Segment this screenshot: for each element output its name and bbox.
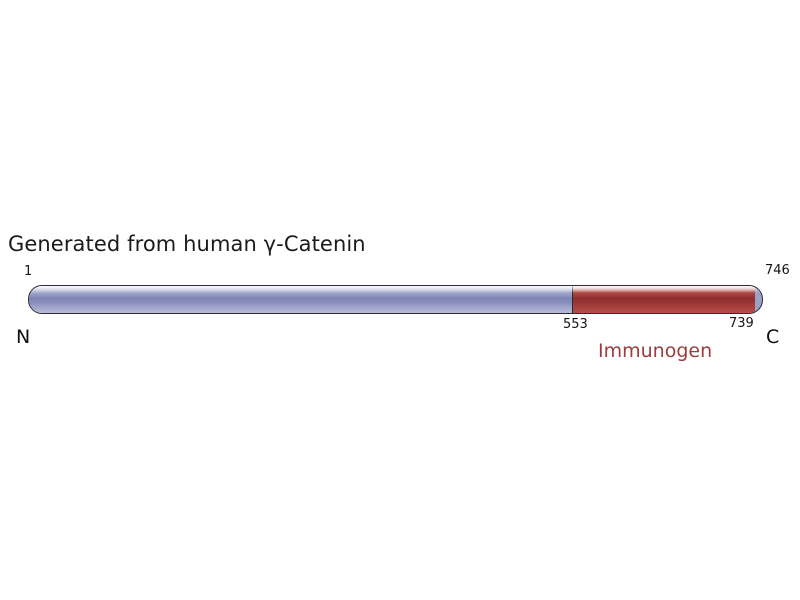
residue-end-label: 746 <box>765 263 790 278</box>
immunogen-end-label: 739 <box>729 316 754 331</box>
protein-backbone-segment <box>29 286 572 313</box>
residue-start-label: 1 <box>24 264 32 279</box>
c-terminus-label: C <box>766 326 779 348</box>
figure-title: Generated from human γ-Catenin <box>8 232 366 256</box>
protein-domain-diagram: Generated from human γ-Catenin 1 746 553… <box>0 0 800 600</box>
n-terminus-label: N <box>16 326 30 348</box>
immunogen-start-label: 553 <box>563 317 588 332</box>
immunogen-segment <box>572 286 755 313</box>
protein-length-bar <box>28 285 763 314</box>
immunogen-label: Immunogen <box>598 340 712 362</box>
